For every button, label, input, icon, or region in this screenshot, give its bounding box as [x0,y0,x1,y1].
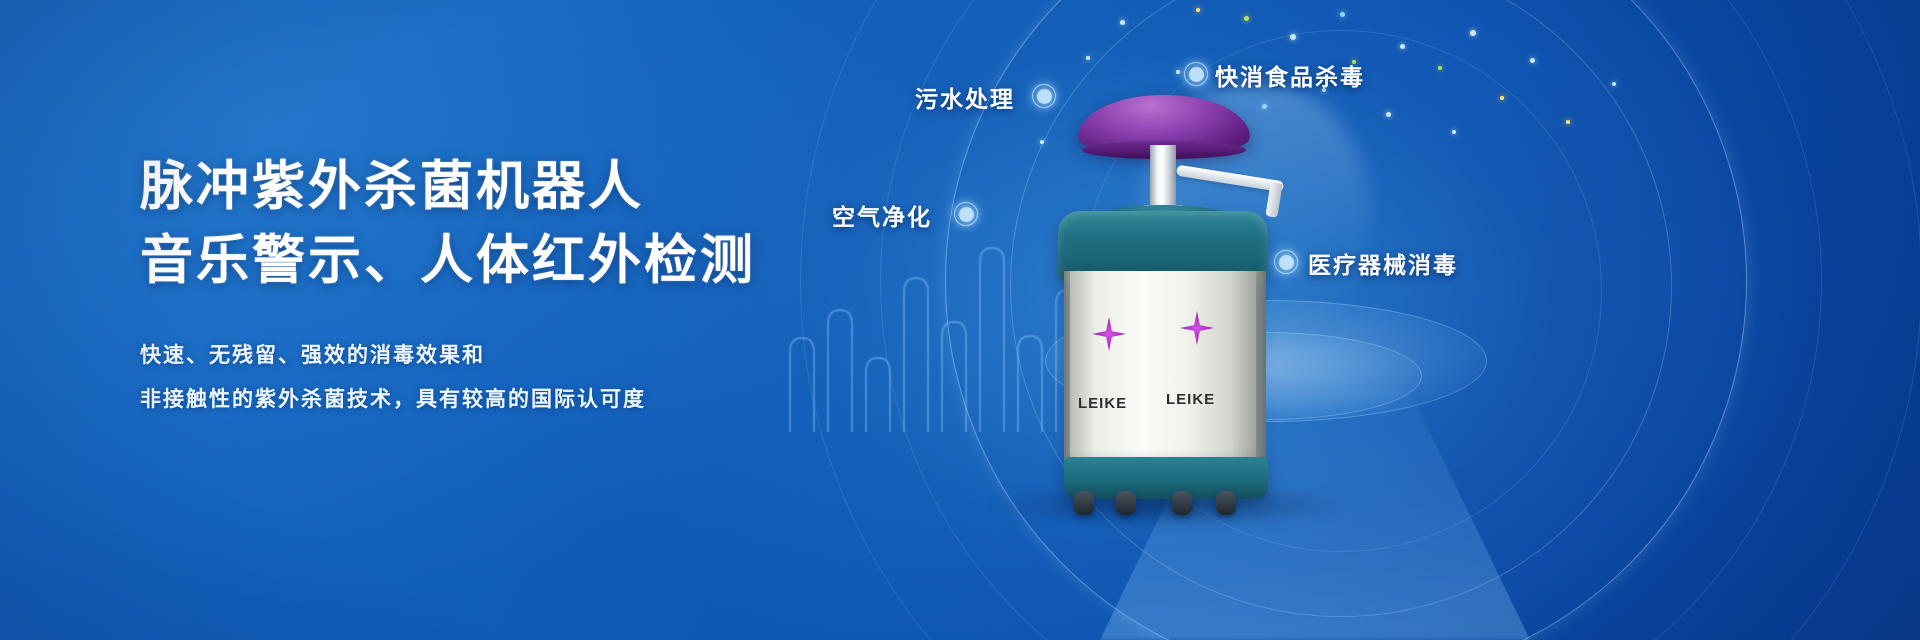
particle [1566,120,1570,124]
promo-banner: 脉冲紫外杀菌机器人 音乐警示、人体红外检测 快速、无残留、强效的消毒效果和 非接… [0,0,1920,640]
particle [1500,96,1504,100]
feature-label-medical: 医疗器械消毒 [1308,246,1458,280]
subtitle-line-2: 非接触性的紫外杀菌技术，具有较高的国际认可度 [140,378,900,422]
connector-dot-food [1184,62,1208,86]
particle [1176,70,1180,74]
particle [1470,30,1476,36]
feature-label-food: 快消食品杀毒 [1215,58,1365,92]
subtitle-block: 快速、无残留、强效的消毒效果和 非接触性的紫外杀菌技术，具有较高的国际认可度 [140,334,900,422]
particle [1438,66,1442,70]
headline-line-2: 音乐警示、人体红外检测 [140,224,900,298]
caster-wheel [1074,491,1094,515]
particle [1400,44,1405,49]
connector-dot-air [954,202,978,226]
uv-lamp-pole [1150,145,1176,213]
particle [1612,82,1616,86]
particle [1244,16,1249,21]
caster-wheel [1172,491,1192,515]
feature-label-wastewater: 污水处理 [915,80,1015,114]
particle [1086,56,1090,60]
push-handle-bar [1176,165,1284,193]
particle [1120,20,1125,25]
brand-logo-right: LEIKE [1166,391,1215,408]
cabinet-base [1064,457,1268,499]
subtitle-line-1: 快速、无残留、强效的消毒效果和 [140,334,900,378]
particle [1452,130,1456,134]
caster-wheel [1116,491,1136,515]
cabinet-body [1070,271,1256,461]
sparkle-icon [1092,317,1126,351]
brand-logo-left: LEIKE [1078,395,1127,412]
particle [1530,58,1535,63]
particle [1290,34,1296,40]
push-handle [1176,173,1286,203]
particle [1386,112,1391,117]
sparkle-icon [1180,311,1214,345]
particle [1340,12,1345,17]
product-robot: LEIKE LEIKE [1030,95,1300,495]
headline-block: 脉冲紫外杀菌机器人 音乐警示、人体红外检测 快速、无残留、强效的消毒效果和 非接… [140,150,900,422]
feature-label-air: 空气净化 [832,198,932,232]
headline-line-1: 脉冲紫外杀菌机器人 [140,150,900,224]
caster-wheel [1216,491,1236,515]
particle [1196,8,1200,12]
